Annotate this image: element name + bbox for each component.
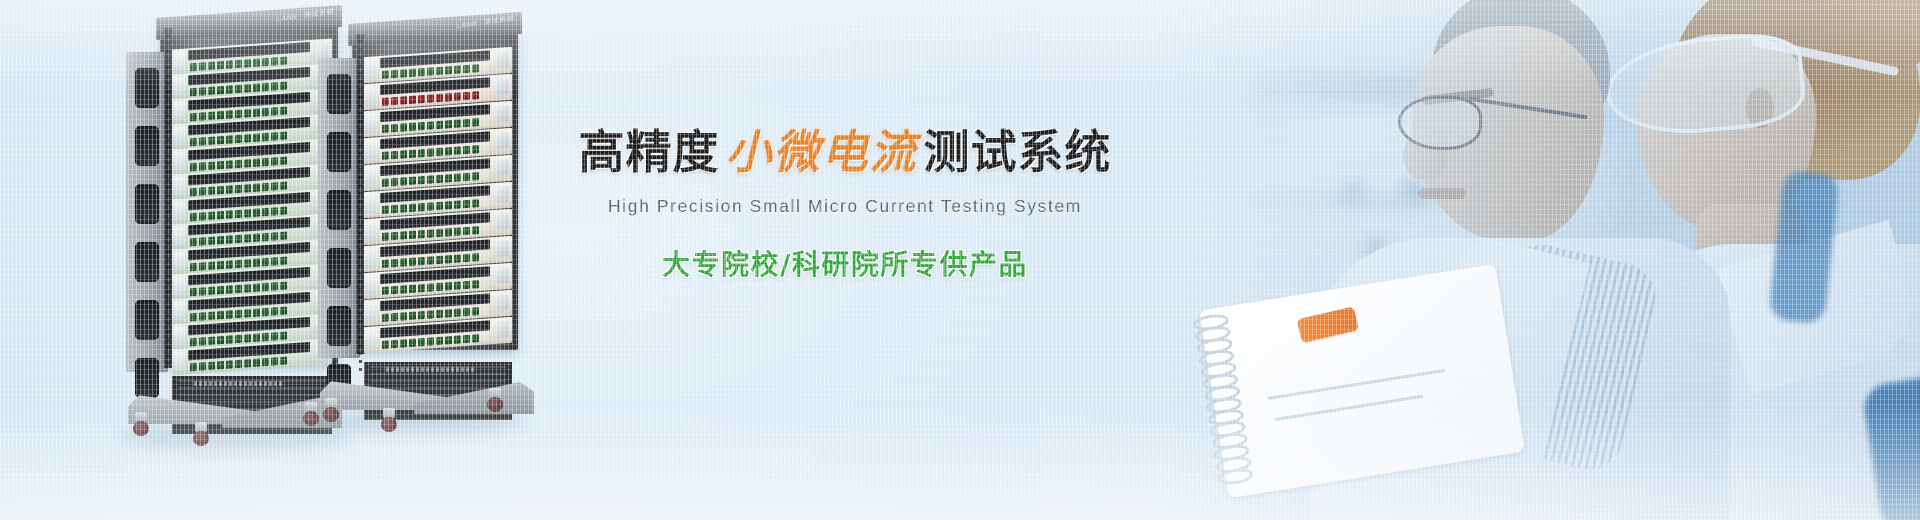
terminal-port[interactable] <box>418 94 425 102</box>
panel-knob[interactable] <box>496 321 509 338</box>
panel-button[interactable] <box>174 152 185 171</box>
terminal-port[interactable] <box>244 184 251 192</box>
panel-button[interactable] <box>174 302 185 321</box>
terminal-port[interactable] <box>208 111 215 119</box>
terminal-port[interactable] <box>427 67 434 75</box>
terminal-port[interactable] <box>271 232 278 240</box>
terminal-port[interactable] <box>418 175 425 183</box>
terminal-port[interactable] <box>271 157 278 165</box>
terminal-port[interactable] <box>280 106 287 114</box>
terminal-port[interactable] <box>235 234 242 242</box>
terminal-port[interactable] <box>427 175 434 183</box>
terminal-port[interactable] <box>418 283 425 291</box>
terminal-port[interactable] <box>382 151 389 159</box>
terminal-port[interactable] <box>271 257 278 265</box>
terminal-port[interactable] <box>244 109 251 117</box>
panel-knob[interactable] <box>496 159 509 176</box>
terminal-port[interactable] <box>190 187 197 195</box>
terminal-port[interactable] <box>427 121 434 129</box>
terminal-port[interactable] <box>427 310 434 318</box>
terminal-port[interactable] <box>271 282 278 290</box>
terminal-port[interactable] <box>409 176 416 184</box>
terminal-port[interactable] <box>382 286 389 294</box>
terminal-port[interactable] <box>280 331 287 339</box>
terminal-port[interactable] <box>280 256 287 264</box>
terminal-port[interactable] <box>226 110 233 118</box>
terminal-port[interactable] <box>391 177 398 185</box>
terminal-port[interactable] <box>280 131 287 139</box>
terminal-port[interactable] <box>262 282 269 290</box>
terminal-port[interactable] <box>463 64 470 72</box>
terminal-port[interactable] <box>409 311 416 319</box>
terminal-port[interactable] <box>391 285 398 293</box>
terminal-port[interactable] <box>463 280 470 288</box>
terminal-port[interactable] <box>253 283 260 291</box>
terminal-port[interactable] <box>445 66 452 74</box>
terminal-port[interactable] <box>271 82 278 90</box>
terminal-port[interactable] <box>445 147 452 155</box>
terminal-port[interactable] <box>445 120 452 128</box>
panel-button[interactable] <box>174 277 185 296</box>
terminal-port[interactable] <box>217 260 224 268</box>
terminal-port[interactable] <box>463 172 470 180</box>
terminal-port[interactable] <box>391 231 398 239</box>
terminal-port[interactable] <box>262 207 269 215</box>
panel-knob[interactable] <box>496 267 509 284</box>
terminal-port[interactable] <box>235 159 242 167</box>
post-hole <box>359 280 362 283</box>
terminal-port[interactable] <box>190 312 197 320</box>
terminal-port[interactable] <box>217 60 224 68</box>
terminal-port[interactable] <box>409 284 416 292</box>
terminal-port[interactable] <box>436 255 443 263</box>
terminal-port[interactable] <box>280 56 287 64</box>
panel-knob[interactable] <box>496 78 509 95</box>
post-hole <box>167 338 170 341</box>
terminal-port[interactable] <box>463 199 470 207</box>
terminal-port[interactable] <box>445 228 452 236</box>
terminal-port[interactable] <box>409 149 416 157</box>
panel-button[interactable] <box>366 221 377 240</box>
terminal-port[interactable] <box>427 229 434 237</box>
terminal-port[interactable] <box>235 134 242 142</box>
terminal-port[interactable] <box>271 132 278 140</box>
terminal-port[interactable] <box>454 227 461 235</box>
post-hole <box>167 194 170 197</box>
terminal-port[interactable] <box>400 96 407 104</box>
panel-button[interactable] <box>366 140 377 159</box>
terminal-port[interactable] <box>382 178 389 186</box>
terminal-port[interactable] <box>235 109 242 117</box>
terminal-port[interactable] <box>199 287 206 295</box>
terminal-port[interactable] <box>463 145 470 153</box>
terminal-port[interactable] <box>244 59 251 67</box>
terminal-port[interactable] <box>418 67 425 75</box>
terminal-port[interactable] <box>391 312 398 320</box>
terminal-port[interactable] <box>208 236 215 244</box>
panel-button[interactable] <box>174 127 185 146</box>
terminal-port[interactable] <box>436 282 443 290</box>
terminal-port[interactable] <box>217 310 224 318</box>
terminal-port[interactable] <box>454 173 461 181</box>
terminal-port[interactable] <box>208 311 215 319</box>
terminal-port[interactable] <box>454 308 461 316</box>
terminal-port[interactable] <box>445 93 452 101</box>
terminal-port[interactable] <box>382 259 389 267</box>
panel-button[interactable] <box>366 167 377 186</box>
panel-knob[interactable] <box>496 132 509 149</box>
terminal-port[interactable] <box>262 82 269 90</box>
terminal-port[interactable] <box>436 120 443 128</box>
terminal-port[interactable] <box>271 107 278 115</box>
terminal-port[interactable] <box>226 135 233 143</box>
post-hole <box>359 272 362 275</box>
terminal-port[interactable] <box>208 136 215 144</box>
terminal-port[interactable] <box>190 287 197 295</box>
terminal-port[interactable] <box>271 57 278 65</box>
post-hole <box>167 106 170 109</box>
terminal-port[interactable] <box>436 66 443 74</box>
terminal-port[interactable] <box>208 286 215 294</box>
terminal-port[interactable] <box>382 205 389 213</box>
terminal-port[interactable] <box>244 284 251 292</box>
terminal-port[interactable] <box>454 254 461 262</box>
terminal-port[interactable] <box>427 202 434 210</box>
terminal-port[interactable] <box>199 312 206 320</box>
terminal-port[interactable] <box>280 156 287 164</box>
panel-button[interactable] <box>174 252 185 271</box>
terminal-port[interactable] <box>280 231 287 239</box>
terminal-port[interactable] <box>208 161 215 169</box>
terminal-port[interactable] <box>391 204 398 212</box>
terminal-port[interactable] <box>418 148 425 156</box>
caster-wheel-icon <box>132 412 150 436</box>
terminal-port[interactable] <box>391 96 398 104</box>
terminal-port[interactable] <box>217 285 224 293</box>
post-hole <box>359 328 362 331</box>
terminal-port[interactable] <box>472 91 479 99</box>
terminal-port[interactable] <box>391 258 398 266</box>
terminal-port[interactable] <box>427 337 434 345</box>
terminal-port[interactable] <box>436 147 443 155</box>
terminal-port[interactable] <box>391 123 398 131</box>
terminal-port[interactable] <box>445 282 452 290</box>
panel-button[interactable] <box>174 77 185 96</box>
terminal-port[interactable] <box>400 312 407 320</box>
terminal-port[interactable] <box>262 182 269 190</box>
terminal-port[interactable] <box>226 260 233 268</box>
post-hole <box>359 200 362 203</box>
terminal-port[interactable] <box>208 261 215 269</box>
terminal-port[interactable] <box>190 262 197 270</box>
terminal-port[interactable] <box>244 234 251 242</box>
terminal-port[interactable] <box>217 135 224 143</box>
terminal-port[interactable] <box>454 92 461 100</box>
terminal-port[interactable] <box>382 124 389 132</box>
terminal-port[interactable] <box>400 285 407 293</box>
terminal-port[interactable] <box>199 187 206 195</box>
terminal-port[interactable] <box>400 150 407 158</box>
terminal-port[interactable] <box>217 335 224 343</box>
terminal-port[interactable] <box>190 112 197 120</box>
terminal-port[interactable] <box>271 332 278 340</box>
terminal-port[interactable] <box>436 174 443 182</box>
terminal-port[interactable] <box>427 256 434 264</box>
terminal-port[interactable] <box>400 258 407 266</box>
panel-knob[interactable] <box>496 294 509 311</box>
terminal-port[interactable] <box>208 86 215 94</box>
terminal-port[interactable] <box>244 159 251 167</box>
terminal-port[interactable] <box>226 235 233 243</box>
terminal-port[interactable] <box>226 310 233 318</box>
terminal-port[interactable] <box>427 283 434 291</box>
terminal-port[interactable] <box>463 334 470 342</box>
terminal-port[interactable] <box>253 233 260 241</box>
terminal-port[interactable] <box>409 257 416 265</box>
panel-button[interactable] <box>366 248 377 267</box>
panel-button[interactable] <box>366 113 377 132</box>
terminal-port[interactable] <box>235 59 242 67</box>
terminal-port[interactable] <box>418 229 425 237</box>
banner-root: LAN8 测试系统 LAN8 测试系统 <box>0 0 1920 520</box>
terminal-port[interactable] <box>445 309 452 317</box>
terminal-port[interactable] <box>409 68 416 76</box>
terminal-port[interactable] <box>472 253 479 261</box>
terminal-port[interactable] <box>436 201 443 209</box>
terminal-port[interactable] <box>400 177 407 185</box>
terminal-port[interactable] <box>427 148 434 156</box>
terminal-port[interactable] <box>217 85 224 93</box>
terminal-port[interactable] <box>253 208 260 216</box>
terminal-port[interactable] <box>208 211 215 219</box>
post-hole <box>359 192 362 195</box>
terminal-port[interactable] <box>391 150 398 158</box>
terminal-port[interactable] <box>199 262 206 270</box>
terminal-port[interactable] <box>226 185 233 193</box>
terminal-port[interactable] <box>253 133 260 141</box>
terminal-port[interactable] <box>244 134 251 142</box>
terminal-port[interactable] <box>253 308 260 316</box>
terminal-port[interactable] <box>427 94 434 102</box>
panel-knob[interactable] <box>496 240 509 257</box>
terminal-port[interactable] <box>262 132 269 140</box>
terminal-port[interactable] <box>472 280 479 288</box>
terminal-port[interactable] <box>445 174 452 182</box>
terminal-port[interactable] <box>253 108 260 116</box>
terminal-port[interactable] <box>472 334 479 342</box>
terminal-port[interactable] <box>199 162 206 170</box>
panel-knob[interactable] <box>496 213 509 230</box>
terminal-port[interactable] <box>262 232 269 240</box>
terminal-port[interactable] <box>226 60 233 68</box>
terminal-port[interactable] <box>226 160 233 168</box>
post-hole <box>359 184 362 187</box>
terminal-port[interactable] <box>217 110 224 118</box>
terminal-port[interactable] <box>436 93 443 101</box>
terminal-port[interactable] <box>454 65 461 73</box>
terminal-port[interactable] <box>382 97 389 105</box>
terminal-port[interactable] <box>436 228 443 236</box>
terminal-port[interactable] <box>253 183 260 191</box>
terminal-port[interactable] <box>226 210 233 218</box>
terminal-port[interactable] <box>208 186 215 194</box>
terminal-port[interactable] <box>217 185 224 193</box>
terminal-port[interactable] <box>217 160 224 168</box>
panel-button[interactable] <box>366 275 377 294</box>
terminal-port[interactable] <box>199 212 206 220</box>
terminal-port[interactable] <box>472 172 479 180</box>
terminal-port[interactable] <box>280 206 287 214</box>
terminal-port[interactable] <box>445 201 452 209</box>
terminal-port[interactable] <box>208 61 215 69</box>
terminal-port[interactable] <box>454 200 461 208</box>
terminal-port[interactable] <box>409 230 416 238</box>
terminal-port[interactable] <box>190 137 197 145</box>
terminal-port[interactable] <box>244 259 251 267</box>
terminal-port[interactable] <box>199 62 206 70</box>
terminal-port[interactable] <box>280 306 287 314</box>
terminal-port[interactable] <box>208 336 215 344</box>
terminal-port[interactable] <box>235 184 242 192</box>
terminal-port[interactable] <box>217 210 224 218</box>
terminal-port[interactable] <box>472 145 479 153</box>
terminal-port[interactable] <box>271 307 278 315</box>
panel-button[interactable] <box>174 102 185 121</box>
terminal-port[interactable] <box>436 309 443 317</box>
terminal-port[interactable] <box>472 226 479 234</box>
terminal-port[interactable] <box>463 253 470 261</box>
panel-button[interactable] <box>174 227 185 246</box>
panel-button[interactable] <box>366 59 377 78</box>
post-hole <box>167 274 170 277</box>
terminal-port[interactable] <box>244 84 251 92</box>
terminal-port[interactable] <box>235 334 242 342</box>
panel-button[interactable] <box>366 302 377 321</box>
terminal-port[interactable] <box>280 181 287 189</box>
terminal-port[interactable] <box>400 231 407 239</box>
terminal-port[interactable] <box>199 112 206 120</box>
terminal-port[interactable] <box>226 335 233 343</box>
terminal-port[interactable] <box>472 118 479 126</box>
terminal-port[interactable] <box>226 85 233 93</box>
terminal-port[interactable] <box>235 209 242 217</box>
terminal-port[interactable] <box>253 258 260 266</box>
terminal-port[interactable] <box>436 336 443 344</box>
terminal-port[interactable] <box>262 332 269 340</box>
terminal-port[interactable] <box>190 237 197 245</box>
terminal-port[interactable] <box>418 202 425 210</box>
panel-button[interactable] <box>366 194 377 213</box>
post-hole <box>359 72 362 75</box>
terminal-port[interactable] <box>199 237 206 245</box>
terminal-port[interactable] <box>391 69 398 77</box>
terminal-port[interactable] <box>235 84 242 92</box>
terminal-port[interactable] <box>463 307 470 315</box>
terminal-port[interactable] <box>262 107 269 115</box>
terminal-port[interactable] <box>235 284 242 292</box>
terminal-port[interactable] <box>454 119 461 127</box>
terminal-port[interactable] <box>190 337 197 345</box>
terminal-port[interactable] <box>235 309 242 317</box>
terminal-port[interactable] <box>409 122 416 130</box>
terminal-port[interactable] <box>382 232 389 240</box>
terminal-port[interactable] <box>262 57 269 65</box>
panel-button[interactable] <box>174 177 185 196</box>
terminal-port[interactable] <box>472 199 479 207</box>
terminal-port[interactable] <box>190 162 197 170</box>
terminal-port[interactable] <box>472 64 479 72</box>
panel-knob[interactable] <box>496 51 509 68</box>
terminal-port[interactable] <box>280 281 287 289</box>
post-hole <box>359 40 362 43</box>
terminal-port[interactable] <box>199 87 206 95</box>
terminal-port[interactable] <box>463 118 470 126</box>
terminal-port[interactable] <box>262 157 269 165</box>
terminal-port[interactable] <box>445 255 452 263</box>
terminal-port[interactable] <box>463 91 470 99</box>
terminal-port[interactable] <box>271 207 278 215</box>
terminal-port[interactable] <box>235 259 242 267</box>
terminal-port[interactable] <box>190 62 197 70</box>
post-hole <box>167 162 170 165</box>
post-hole <box>167 258 170 261</box>
terminal-port[interactable] <box>400 204 407 212</box>
terminal-port[interactable] <box>400 123 407 131</box>
terminal-port[interactable] <box>409 203 416 211</box>
terminal-port[interactable] <box>418 310 425 318</box>
terminal-port[interactable] <box>463 226 470 234</box>
terminal-port[interactable] <box>244 334 251 342</box>
terminal-port[interactable] <box>271 182 278 190</box>
terminal-port[interactable] <box>409 95 416 103</box>
terminal-port[interactable] <box>190 87 197 95</box>
terminal-port[interactable] <box>382 70 389 78</box>
terminal-port[interactable] <box>253 158 260 166</box>
post-hole <box>167 210 170 213</box>
panel-knob[interactable] <box>496 186 509 203</box>
terminal-port[interactable] <box>418 337 425 345</box>
terminal-port[interactable] <box>454 335 461 343</box>
panel-button[interactable] <box>174 52 185 71</box>
terminal-port[interactable] <box>382 313 389 321</box>
terminal-port[interactable] <box>280 81 287 89</box>
terminal-port[interactable] <box>472 307 479 315</box>
panel-button[interactable] <box>366 86 377 105</box>
terminal-port[interactable] <box>454 281 461 289</box>
terminal-port[interactable] <box>445 336 452 344</box>
post-hole <box>167 234 170 237</box>
terminal-port[interactable] <box>199 137 206 145</box>
panel-button[interactable] <box>174 202 185 221</box>
terminal-port[interactable] <box>217 235 224 243</box>
terminal-port[interactable] <box>199 337 206 345</box>
terminal-port[interactable] <box>418 121 425 129</box>
terminal-port[interactable] <box>454 146 461 154</box>
terminal-port[interactable] <box>253 333 260 341</box>
terminal-port[interactable] <box>253 58 260 66</box>
panel-knob[interactable] <box>496 105 509 122</box>
terminal-port[interactable] <box>418 256 425 264</box>
terminal-port[interactable] <box>253 83 260 91</box>
panel-button[interactable] <box>174 327 185 346</box>
terminal-port[interactable] <box>400 69 407 77</box>
terminal-port[interactable] <box>226 285 233 293</box>
terminal-port[interactable] <box>244 209 251 217</box>
terminal-port[interactable] <box>262 257 269 265</box>
terminal-port[interactable] <box>190 212 197 220</box>
terminal-port[interactable] <box>262 307 269 315</box>
terminal-port[interactable] <box>244 309 251 317</box>
